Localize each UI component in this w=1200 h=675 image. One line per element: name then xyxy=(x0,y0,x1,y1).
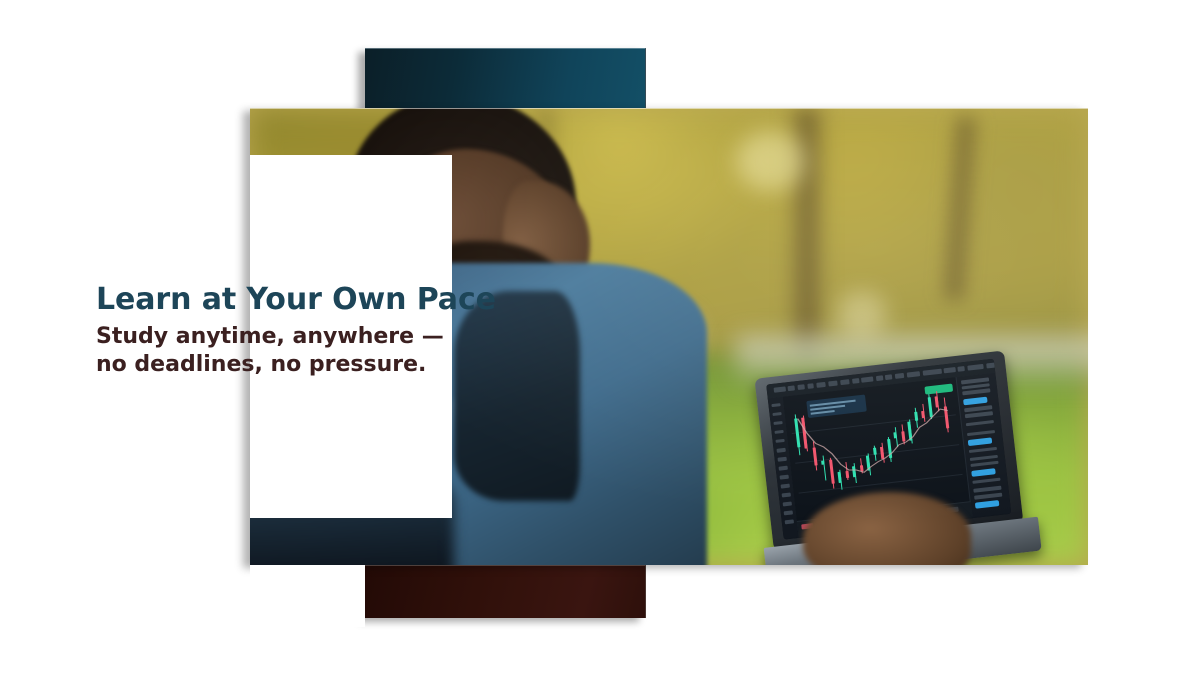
tool-icon xyxy=(778,457,788,462)
tool-icon xyxy=(779,466,789,471)
panel-label xyxy=(970,460,998,467)
tool-icon xyxy=(775,430,785,435)
toolbar-chip xyxy=(798,385,805,390)
bokeh-light xyxy=(837,291,887,339)
photo-notch-bottom-left xyxy=(250,565,365,627)
toolbar-chip xyxy=(807,383,814,388)
toolbar-chip xyxy=(968,364,984,370)
panel-button xyxy=(975,500,1000,509)
toolbar-chip xyxy=(852,378,859,383)
panel-label xyxy=(974,493,1002,500)
toolbar-chip xyxy=(958,366,965,371)
tool-icon xyxy=(774,421,784,426)
panel-button xyxy=(968,437,993,446)
panel-label xyxy=(966,420,994,427)
panel-button xyxy=(971,468,996,477)
tool-icon xyxy=(783,502,793,507)
page-subtitle: Study anytime, anywhere — no deadlines, … xyxy=(96,323,456,379)
tool-icon xyxy=(781,484,791,489)
toolbar-chip xyxy=(986,363,996,368)
tool-icon xyxy=(784,511,794,516)
panel-label xyxy=(967,429,995,436)
page-subtitle-line-1: Study anytime, anywhere — xyxy=(96,324,444,349)
toolbar-chip xyxy=(829,381,839,386)
bokeh-light xyxy=(736,131,806,191)
text-block: Learn at Your Own Pace Study anytime, an… xyxy=(96,283,456,379)
toolbar-chip xyxy=(895,373,905,378)
tool-icon xyxy=(777,448,787,453)
toolbar-chip xyxy=(817,382,827,387)
panel-label xyxy=(969,446,997,453)
toolbar-chip xyxy=(788,386,795,391)
tool-icon xyxy=(780,475,790,480)
page-title: Learn at Your Own Pace xyxy=(96,283,456,317)
toolbar-chip xyxy=(923,369,942,376)
toolbar-chip xyxy=(862,377,874,383)
tool-icon xyxy=(785,520,795,525)
accent-bar-top xyxy=(365,48,646,109)
panel-button xyxy=(963,396,988,405)
panel-label xyxy=(962,389,990,396)
toolbar-chip xyxy=(998,362,1005,367)
tool-icon xyxy=(782,493,792,498)
toolbar-chip xyxy=(774,387,786,393)
toolbar-chip xyxy=(907,371,921,377)
jacket-collar xyxy=(454,291,580,501)
toolbar-chip xyxy=(876,376,883,381)
toolbar-chip xyxy=(885,375,892,380)
panel-label xyxy=(965,411,993,418)
tool-icon xyxy=(776,439,786,444)
toolbar-chip xyxy=(840,379,850,384)
accent-bar-bottom xyxy=(365,565,646,618)
panel-label xyxy=(972,477,1000,484)
panel-label xyxy=(973,486,1001,493)
tool-icon xyxy=(773,412,783,417)
page-subtitle-line-2: no deadlines, no pressure. xyxy=(96,352,426,377)
tool-icon xyxy=(772,403,782,408)
toolbar-chip xyxy=(944,367,956,373)
slide-canvas: Learn at Your Own Pace Study anytime, an… xyxy=(0,0,1200,675)
